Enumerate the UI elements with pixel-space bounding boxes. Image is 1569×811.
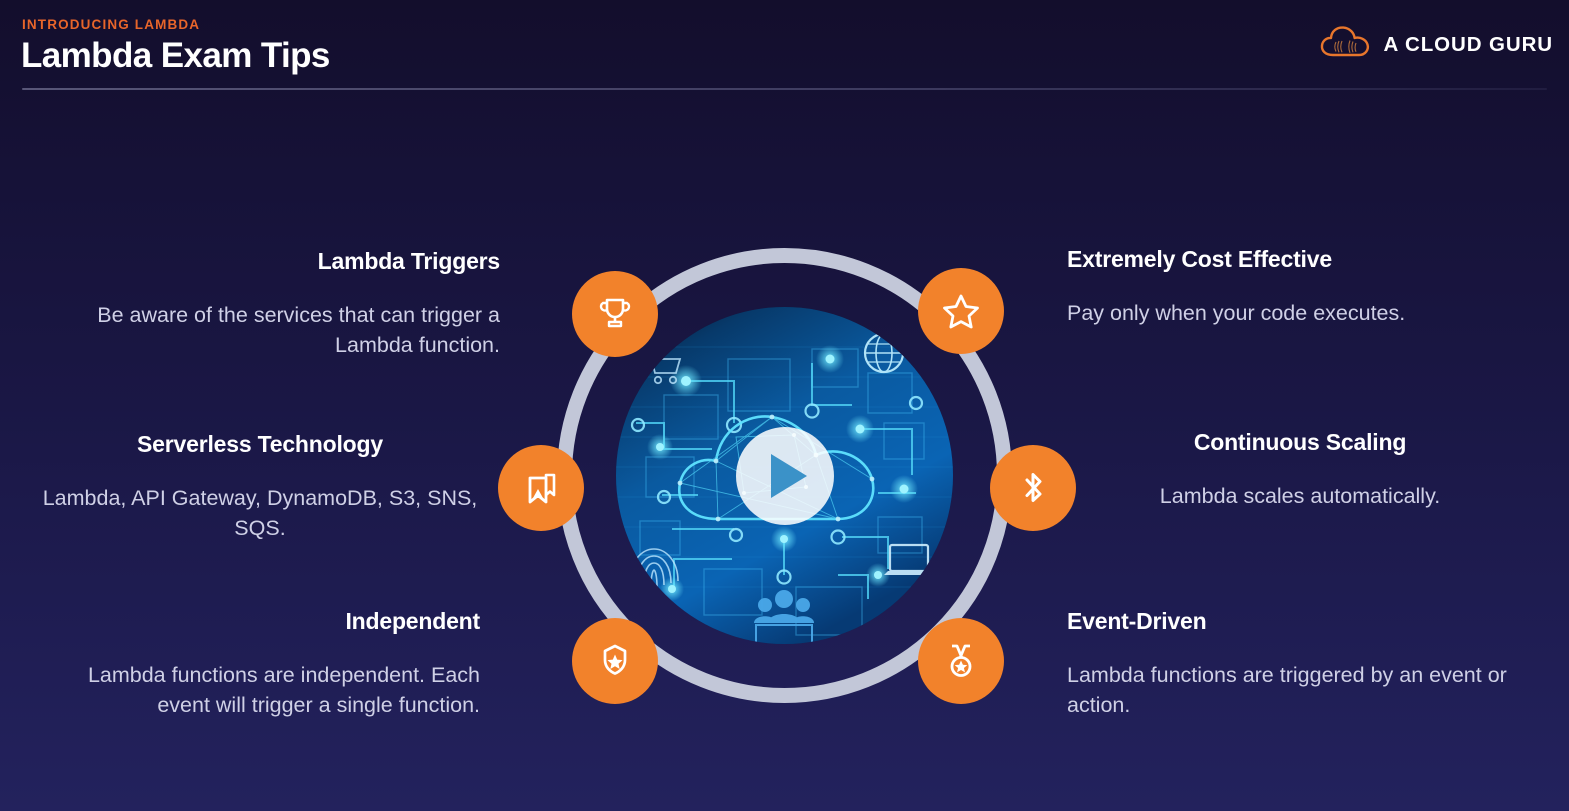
bluetooth-icon xyxy=(1013,468,1053,508)
medal-icon xyxy=(941,641,981,681)
node-icon-bluetooth[interactable] xyxy=(990,445,1076,531)
tip-body: Lambda functions are triggered by an eve… xyxy=(1067,660,1507,721)
tip-body: Lambda, API Gateway, DynamoDB, S3, SNS, … xyxy=(40,483,480,544)
bookmarks-icon xyxy=(521,468,561,508)
page-title: Lambda Exam Tips xyxy=(21,36,330,76)
node-icon-star[interactable] xyxy=(918,268,1004,354)
cloud-outline-icon xyxy=(1319,24,1373,65)
tip-heading: Continuous Scaling xyxy=(1080,429,1520,457)
video-thumbnail[interactable] xyxy=(616,307,953,644)
tip-body: Lambda scales automatically. xyxy=(1080,481,1520,512)
page-header: INTRODUCING LAMBDA Lambda Exam Tips A CL… xyxy=(0,0,1569,93)
tip-body: Pay only when your code executes. xyxy=(1067,298,1507,329)
tip-body: Lambda functions are independent. Each e… xyxy=(40,660,480,721)
tip-heading: Lambda Triggers xyxy=(60,248,500,276)
trophy-icon xyxy=(595,294,635,334)
brand-name: A CLOUD GURU xyxy=(1384,33,1553,57)
tip-body: Be aware of the services that can trigge… xyxy=(60,300,500,361)
tip-card-event-driven: Event-Driven Lambda functions are trigge… xyxy=(1067,608,1507,721)
brand-logo: A CLOUD GURU xyxy=(1319,24,1553,65)
tip-card-independent: Independent Lambda functions are indepen… xyxy=(40,608,480,721)
tip-heading: Independent xyxy=(40,608,480,636)
node-icon-medal[interactable] xyxy=(918,618,1004,704)
play-button[interactable] xyxy=(736,427,834,525)
star-outline-icon xyxy=(941,291,981,331)
tip-heading: Event-Driven xyxy=(1067,608,1507,636)
tip-card-serverless: Serverless Technology Lambda, API Gatewa… xyxy=(40,431,480,544)
header-divider xyxy=(22,88,1547,90)
node-icon-trophy[interactable] xyxy=(572,271,658,357)
content-stage: Lambda Triggers Be aware of the services… xyxy=(0,93,1569,811)
node-icon-shield-star[interactable] xyxy=(572,618,658,704)
node-icon-bookmarks[interactable] xyxy=(498,445,584,531)
tip-card-continuous-scaling: Continuous Scaling Lambda scales automat… xyxy=(1080,429,1520,511)
tip-card-cost-effective: Extremely Cost Effective Pay only when y… xyxy=(1067,246,1507,328)
header-eyebrow: INTRODUCING LAMBDA xyxy=(22,17,200,32)
play-triangle-icon xyxy=(771,454,807,498)
shield-star-icon xyxy=(595,641,635,681)
tip-heading: Extremely Cost Effective xyxy=(1067,246,1507,274)
tip-card-triggers: Lambda Triggers Be aware of the services… xyxy=(60,248,500,361)
tip-heading: Serverless Technology xyxy=(40,431,480,459)
